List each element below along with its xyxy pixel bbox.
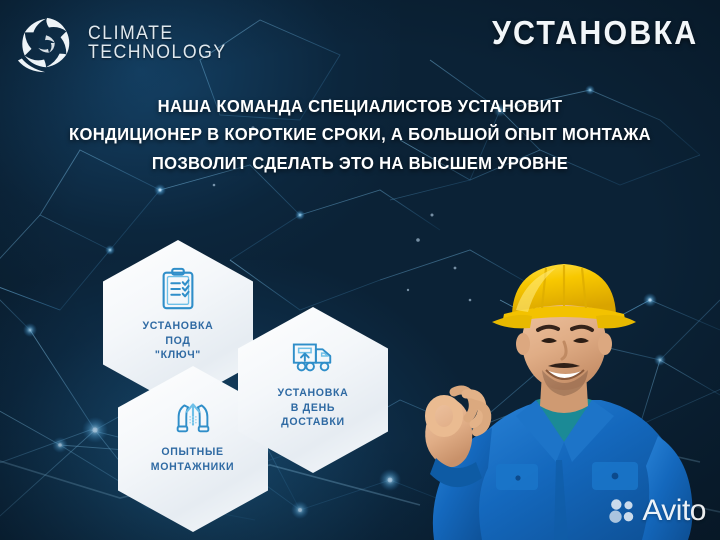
promo-poster: CLIMATE TECHNOLOGY УСТАНОВКА НАША КОМАНД… xyxy=(0,0,720,540)
label-line-1: УСТАНОВКА xyxy=(278,386,349,401)
label-line-3: "КЛЮЧ" xyxy=(143,348,214,363)
label-line-2: В ДЕНЬ xyxy=(278,401,349,416)
label-line-2: ПОД xyxy=(143,334,214,349)
brand-line-1: CLIMATE xyxy=(88,24,227,43)
label-line-3: ДОСТАВКИ xyxy=(278,415,349,430)
climate-vortex-logo-icon xyxy=(16,12,78,74)
feature-hex-turnkey-label: УСТАНОВКА ПОД "КЛЮЧ" xyxy=(143,319,214,363)
hands-with-arrow-icon xyxy=(170,392,216,438)
feature-hex-experts-label: ОПЫТНЫЕ МОНТАЖНИКИ xyxy=(151,445,235,474)
avito-dots-icon xyxy=(609,498,635,524)
label-line-1: ОПЫТНЫЕ xyxy=(151,445,235,460)
brand-line-2: TECHNOLOGY xyxy=(88,43,227,62)
subheadline-line-2: КОНДИЦИОНЕР В КОРОТКИЕ СРОКИ, А БОЛЬШОЙ … xyxy=(64,120,657,148)
subheadline-line-1: НАША КОМАНДА СПЕЦИАЛИСТОВ УСТАНОВИТ xyxy=(64,92,657,120)
worker-photo xyxy=(396,210,720,540)
avito-wordmark: Avito xyxy=(642,494,706,528)
avito-watermark: Avito xyxy=(609,494,706,528)
page-title: УСТАНОВКА xyxy=(492,14,698,52)
delivery-truck-icon xyxy=(290,333,336,379)
subheadline-line-3: ПОЗВОЛИТ СДЕЛАТЬ ЭТО НА ВЫСШЕМ УРОВНЕ xyxy=(64,149,657,177)
feature-hex-same-day-label: УСТАНОВКА В ДЕНЬ ДОСТАВКИ xyxy=(278,386,349,430)
clipboard-checklist-icon xyxy=(155,266,201,312)
brand-logo: CLIMATE TECHNOLOGY xyxy=(16,12,237,74)
label-line-1: УСТАНОВКА xyxy=(143,319,214,334)
brand-logo-text: CLIMATE TECHNOLOGY xyxy=(88,24,237,63)
subheadline: НАША КОМАНДА СПЕЦИАЛИСТОВ УСТАНОВИТ КОНД… xyxy=(0,92,720,177)
label-line-2: МОНТАЖНИКИ xyxy=(151,460,235,475)
